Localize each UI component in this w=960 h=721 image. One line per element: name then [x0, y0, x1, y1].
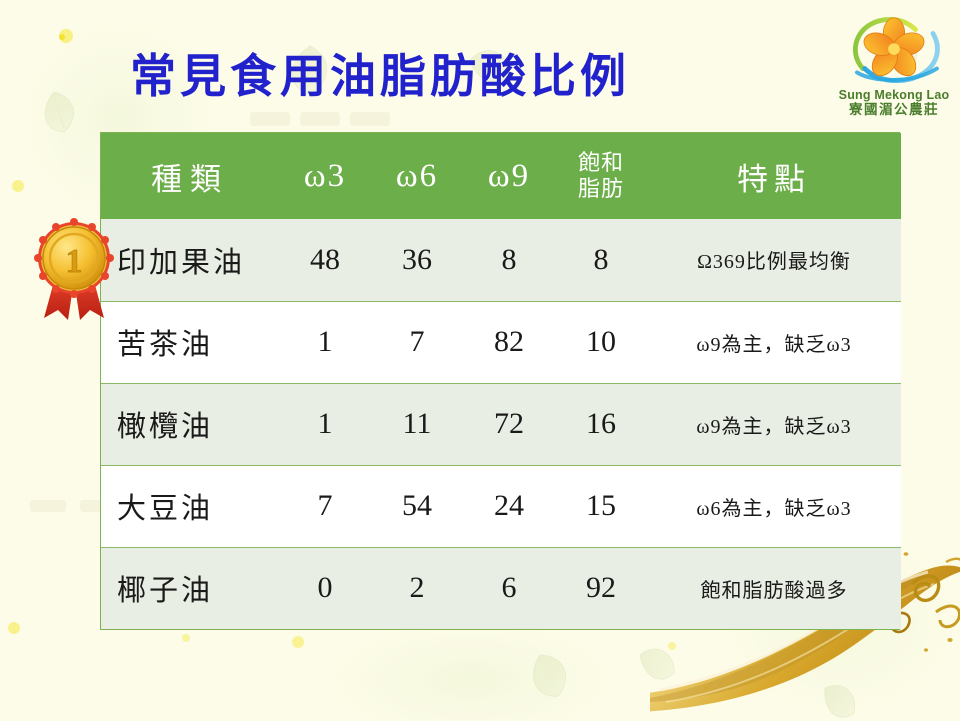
brand-logo: Sung Mekong Lao 寮國湄公農莊 [838, 12, 950, 130]
cell-saturated: 10 [555, 301, 647, 383]
cell-feature: ω6為主，缺乏ω3 [647, 465, 901, 547]
logo-english-name: Sung Mekong Lao [838, 88, 950, 102]
plumeria-flower-icon [838, 12, 950, 90]
gold-medal-ribbon-icon: 1 [28, 218, 120, 322]
cell-omega6: 7 [371, 301, 463, 383]
cell-oil-type: 苦茶油 [101, 301, 279, 383]
cell-feature: ω9為主，缺乏ω3 [647, 301, 901, 383]
cell-saturated: 92 [555, 547, 647, 629]
logo-chinese-name: 寮國湄公農莊 [838, 102, 950, 118]
header-omega6: ω6 [371, 133, 463, 219]
table-row: 椰子油 0 2 6 92 飽和脂肪酸過多 [101, 547, 901, 629]
cell-oil-type: 橄欖油 [101, 383, 279, 465]
medal-rank-text: 1 [66, 243, 83, 280]
page-title: 常見食用油脂肪酸比例 [130, 40, 630, 106]
cell-omega6: 54 [371, 465, 463, 547]
table-header-row: 種類 ω3 ω6 ω9 飽和 脂肪 特點 [101, 133, 901, 219]
cell-omega3: 0 [279, 547, 371, 629]
header-saturated-line1: 飽和 [556, 150, 646, 176]
cell-oil-type: 大豆油 [101, 465, 279, 547]
cell-omega9: 82 [463, 301, 555, 383]
cell-omega3: 1 [279, 301, 371, 383]
cell-saturated: 16 [555, 383, 647, 465]
table-body: 印加果油 48 36 8 8 Ω369比例最均衡 苦茶油 1 7 82 10 ω… [101, 219, 901, 629]
data-table: 種類 ω3 ω6 ω9 飽和 脂肪 特點 印加果油 48 36 8 8 Ω369… [101, 133, 901, 629]
cell-omega9: 72 [463, 383, 555, 465]
cell-omega6: 11 [371, 383, 463, 465]
table-row: 橄欖油 1 11 72 16 ω9為主，缺乏ω3 [101, 383, 901, 465]
gold-medal-badge: 1 [28, 218, 120, 322]
cell-omega3: 1 [279, 383, 371, 465]
cell-omega9: 24 [463, 465, 555, 547]
table-row: 印加果油 48 36 8 8 Ω369比例最均衡 [101, 219, 901, 301]
header-saturated-line2: 脂肪 [556, 176, 646, 202]
header-type: 種類 [101, 133, 279, 219]
cell-saturated: 8 [555, 219, 647, 301]
cell-omega9: 8 [463, 219, 555, 301]
table-row: 大豆油 7 54 24 15 ω6為主，缺乏ω3 [101, 465, 901, 547]
cell-feature: Ω369比例最均衡 [647, 219, 901, 301]
fatty-acid-comparison-table: 種類 ω3 ω6 ω9 飽和 脂肪 特點 印加果油 48 36 8 8 Ω369… [100, 132, 900, 630]
cell-omega6: 36 [371, 219, 463, 301]
header-omega9: ω9 [463, 133, 555, 219]
cell-feature: ω9為主，缺乏ω3 [647, 383, 901, 465]
cell-feature: 飽和脂肪酸過多 [647, 547, 901, 629]
header-feature: 特點 [647, 133, 901, 219]
cell-oil-type: 印加果油 [101, 219, 279, 301]
cell-omega3: 48 [279, 219, 371, 301]
header-saturated-fat: 飽和 脂肪 [555, 133, 647, 219]
cell-omega6: 2 [371, 547, 463, 629]
cell-omega3: 7 [279, 465, 371, 547]
header-omega3: ω3 [279, 133, 371, 219]
cell-oil-type: 椰子油 [101, 547, 279, 629]
cell-omega9: 6 [463, 547, 555, 629]
table-row: 苦茶油 1 7 82 10 ω9為主，缺乏ω3 [101, 301, 901, 383]
cell-saturated: 15 [555, 465, 647, 547]
